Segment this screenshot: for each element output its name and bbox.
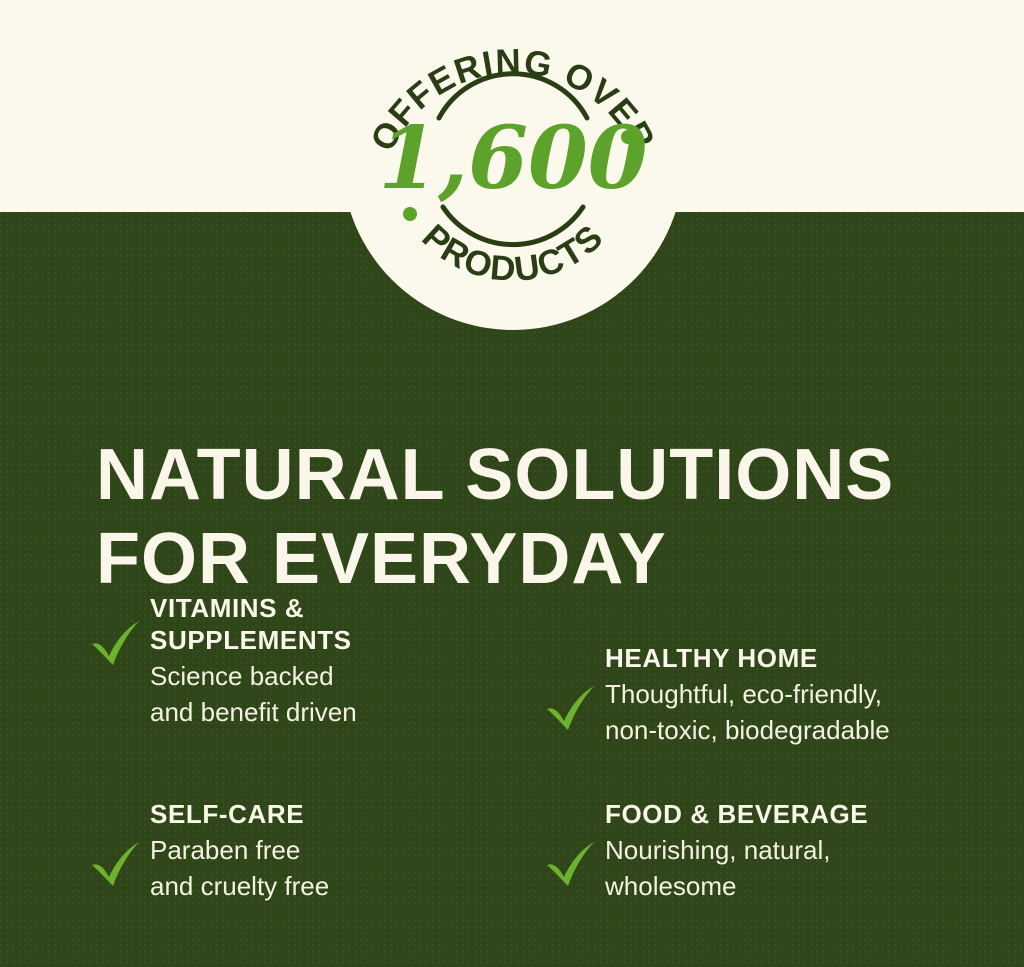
feature-description: Nourishing, natural, wholesome [605, 832, 868, 904]
feature-title-line-1: HEALTHY HOME [605, 643, 818, 673]
feature-title-line-1: SELF-CARE [150, 799, 304, 829]
page-title: NATURAL SOLUTIONS FOR EVERYDAY [96, 433, 976, 601]
feature-title-line-1: FOOD & BEVERAGE [605, 799, 868, 829]
offering-badge: OFFERING OVER PRODUCTS 1,600 [342, 0, 684, 330]
headline-line-1: NATURAL SOLUTIONS [96, 433, 976, 517]
feature-title: SELF-CARE [150, 798, 329, 830]
feature-list: VITAMINS & SUPPLEMENTS Science backed an… [88, 592, 1000, 904]
feature-desc-line-2: wholesome [605, 868, 868, 904]
feature-item-vitamins-supplements: VITAMINS & SUPPLEMENTS Science backed an… [88, 592, 543, 798]
feature-body: VITAMINS & SUPPLEMENTS Science backed an… [150, 592, 357, 730]
headline-line-2: FOR EVERYDAY [96, 517, 976, 601]
feature-title: VITAMINS & SUPPLEMENTS [150, 592, 357, 656]
feature-item-healthy-home: HEALTHY HOME Thoughtful, eco-friendly, n… [543, 592, 998, 798]
feature-item-food-beverage: FOOD & BEVERAGE Nourishing, natural, who… [543, 798, 998, 904]
feature-title: FOOD & BEVERAGE [605, 798, 868, 830]
check-icon [543, 839, 599, 889]
feature-desc-line-1: Science backed [150, 658, 357, 694]
feature-desc-line-1: Paraben free [150, 832, 329, 868]
feature-title: HEALTHY HOME [605, 642, 890, 674]
feature-item-self-care: SELF-CARE Paraben free and cruelty free [88, 798, 543, 904]
feature-desc-line-1: Thoughtful, eco-friendly, [605, 676, 890, 712]
feature-desc-line-1: Nourishing, natural, [605, 832, 868, 868]
feature-desc-line-2: and benefit driven [150, 694, 357, 730]
feature-title-line-1: VITAMINS & [150, 593, 304, 623]
check-icon [543, 683, 599, 733]
badge-arc-bottom-text: PRODUCTS [415, 217, 612, 289]
badge-product-count: 1,600 [378, 108, 647, 209]
check-icon [88, 839, 144, 889]
feature-description: Thoughtful, eco-friendly, non-toxic, bio… [605, 676, 890, 748]
feature-title-line-2: SUPPLEMENTS [150, 625, 352, 655]
feature-body: FOOD & BEVERAGE Nourishing, natural, who… [605, 798, 868, 904]
check-icon [88, 618, 144, 668]
feature-desc-line-2: non-toxic, biodegradable [605, 712, 890, 748]
badge-graphic: OFFERING OVER PRODUCTS 1,600 [342, 0, 684, 330]
feature-description: Science backed and benefit driven [150, 658, 357, 730]
feature-desc-line-2: and cruelty free [150, 868, 329, 904]
feature-body: HEALTHY HOME Thoughtful, eco-friendly, n… [605, 642, 890, 748]
promo-banner: OFFERING OVER PRODUCTS 1,600 NATURAL SOL… [0, 0, 1024, 967]
feature-body: SELF-CARE Paraben free and cruelty free [150, 798, 329, 904]
badge-dot-left-icon [403, 207, 417, 221]
feature-description: Paraben free and cruelty free [150, 832, 329, 904]
